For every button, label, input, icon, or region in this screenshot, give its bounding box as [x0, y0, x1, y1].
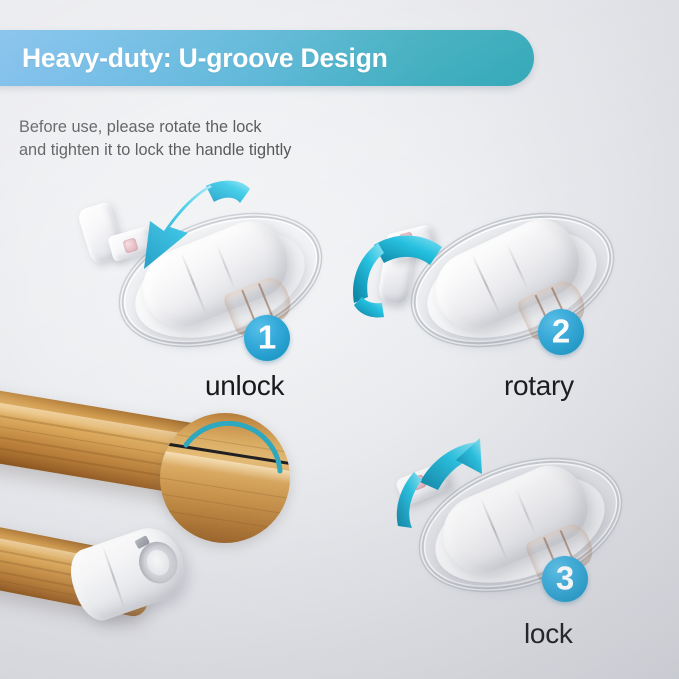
step-number-3: 3 [556, 561, 574, 594]
collar-seam-secondary [516, 490, 536, 535]
step-label-3: lock [524, 618, 573, 650]
rotate-arrow-2 [338, 223, 458, 323]
product-infographic-page: Heavy-duty: U-groove Design Before use, … [0, 0, 679, 679]
step-badge-1: 1 [244, 315, 290, 361]
step-number-1: 1 [258, 320, 276, 353]
collar-seam-secondary [507, 245, 529, 290]
header-banner: Heavy-duty: U-groove Design [0, 30, 534, 86]
rotate-arrow-3 [382, 430, 502, 540]
step-badge-3: 3 [542, 556, 588, 602]
step-2-photo: 2 [412, 195, 612, 365]
step-badge-2: 2 [538, 309, 584, 355]
rotate-arrow-1 [126, 177, 256, 275]
magnifier-arc-icon [156, 409, 296, 549]
step-number-2: 2 [552, 314, 570, 347]
step-label-2: rotary [504, 370, 574, 402]
page-title: Heavy-duty: U-groove Design [0, 43, 388, 74]
bamboo-detail-photo [0, 386, 312, 636]
collar-seam [471, 253, 502, 316]
step-3-photo: 3 [420, 440, 620, 610]
instruction-text: Before use, please rotate the lock and t… [19, 116, 291, 162]
step-1-photo: 1 [120, 195, 320, 365]
